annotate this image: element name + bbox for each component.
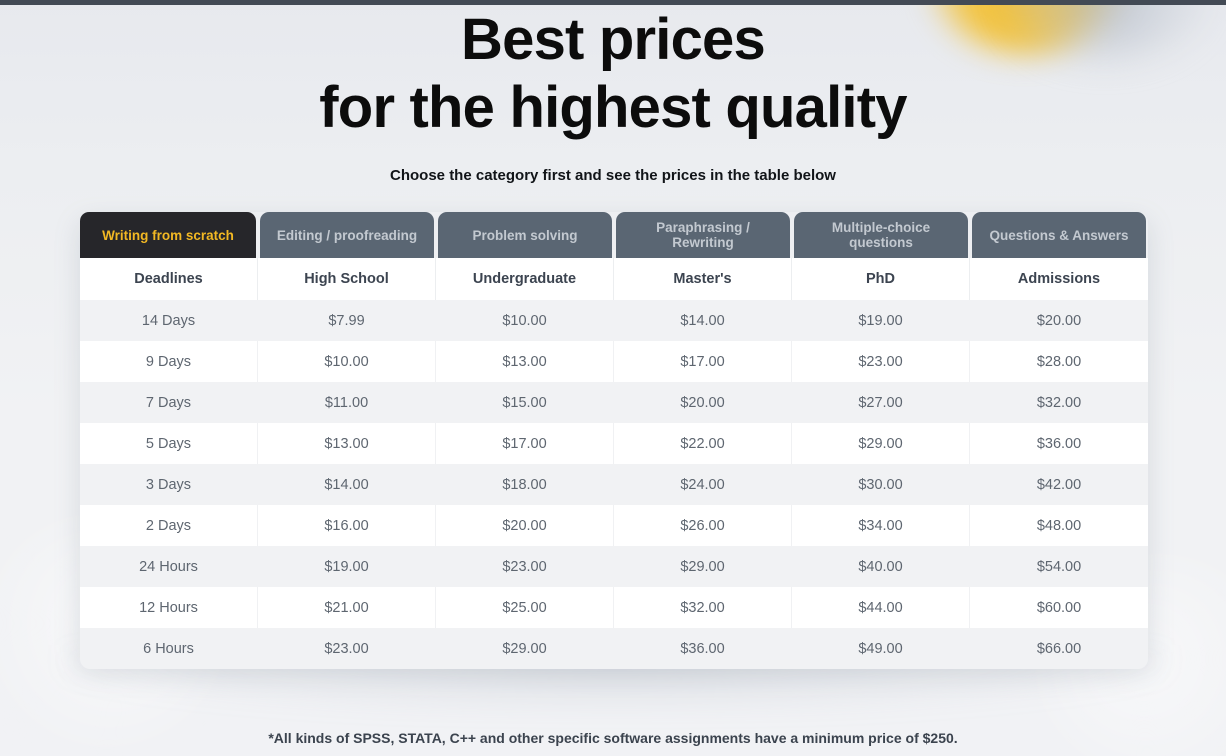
category-tab-0[interactable]: Writing from scratch [80,212,256,258]
price-cell: $19.00 [258,546,436,587]
column-header-5: Admissions [970,258,1148,300]
category-tab-3[interactable]: Paraphrasing / Rewriting [616,212,790,258]
price-cell: $32.00 [970,382,1148,423]
price-cell: $7.99 [258,300,436,341]
price-cell: $36.00 [970,423,1148,464]
price-cell: $26.00 [614,505,792,546]
price-cell: $20.00 [970,300,1148,341]
table-row: 7 Days$11.00$15.00$20.00$27.00$32.00 [80,382,1148,423]
page-title: Best prices for the highest quality [0,6,1226,142]
pricing-table-body: 14 Days$7.99$10.00$14.00$19.00$20.009 Da… [80,300,1148,669]
hero-section: Best prices for the highest quality Choo… [0,0,1226,186]
deadline-cell: 6 Hours [80,628,258,669]
pricing-table-container: Writing from scratchEditing / proofreadi… [80,212,1148,669]
table-row: 9 Days$10.00$13.00$17.00$23.00$28.00 [80,341,1148,382]
price-cell: $11.00 [258,382,436,423]
price-cell: $20.00 [436,505,614,546]
price-cell: $15.00 [436,382,614,423]
table-row: 14 Days$7.99$10.00$14.00$19.00$20.00 [80,300,1148,341]
deadline-cell: 9 Days [80,341,258,382]
category-tab-2[interactable]: Problem solving [438,212,612,258]
price-cell: $44.00 [792,587,970,628]
price-cell: $25.00 [436,587,614,628]
column-header-row: DeadlinesHigh SchoolUndergraduateMaster'… [80,258,1148,300]
price-cell: $24.00 [614,464,792,505]
price-cell: $13.00 [258,423,436,464]
deadline-cell: 14 Days [80,300,258,341]
page-title-line-2: for the highest quality [0,74,1226,142]
price-cell: $60.00 [970,587,1148,628]
price-cell: $23.00 [792,341,970,382]
column-header-4: PhD [792,258,970,300]
price-cell: $19.00 [792,300,970,341]
price-cell: $18.00 [436,464,614,505]
table-row: 24 Hours$19.00$23.00$29.00$40.00$54.00 [80,546,1148,587]
price-cell: $28.00 [970,341,1148,382]
table-row: 2 Days$16.00$20.00$26.00$34.00$48.00 [80,505,1148,546]
price-cell: $17.00 [436,423,614,464]
table-row: 3 Days$14.00$18.00$24.00$30.00$42.00 [80,464,1148,505]
deadline-cell: 24 Hours [80,546,258,587]
price-cell: $29.00 [792,423,970,464]
price-cell: $14.00 [258,464,436,505]
price-cell: $40.00 [792,546,970,587]
price-cell: $10.00 [436,300,614,341]
column-header-3: Master's [614,258,792,300]
price-cell: $17.00 [614,341,792,382]
price-cell: $21.00 [258,587,436,628]
price-cell: $16.00 [258,505,436,546]
price-cell: $23.00 [436,546,614,587]
deadline-cell: 3 Days [80,464,258,505]
price-cell: $66.00 [970,628,1148,669]
price-cell: $54.00 [970,546,1148,587]
table-row: 12 Hours$21.00$25.00$32.00$44.00$60.00 [80,587,1148,628]
price-cell: $36.00 [614,628,792,669]
pricing-page: Best prices for the highest quality Choo… [0,0,1226,756]
category-tab-5[interactable]: Questions & Answers [972,212,1146,258]
category-tab-1[interactable]: Editing / proofreading [260,212,434,258]
price-cell: $20.00 [614,382,792,423]
price-cell: $27.00 [792,382,970,423]
price-cell: $30.00 [792,464,970,505]
column-header-1: High School [258,258,436,300]
price-cell: $32.00 [614,587,792,628]
category-tab-row: Writing from scratchEditing / proofreadi… [80,212,1148,258]
pricing-table: Writing from scratchEditing / proofreadi… [80,212,1148,669]
price-cell: $29.00 [436,628,614,669]
price-cell: $22.00 [614,423,792,464]
footnote-text: *All kinds of SPSS, STATA, C++ and other… [0,729,1226,747]
top-accent-bar [0,0,1226,5]
deadline-cell: 7 Days [80,382,258,423]
price-cell: $14.00 [614,300,792,341]
deadline-cell: 12 Hours [80,587,258,628]
column-header-0: Deadlines [80,258,258,300]
price-cell: $42.00 [970,464,1148,505]
page-title-line-1: Best prices [0,6,1226,74]
table-row: 6 Hours$23.00$29.00$36.00$49.00$66.00 [80,628,1148,669]
price-cell: $13.00 [436,341,614,382]
price-cell: $48.00 [970,505,1148,546]
price-cell: $49.00 [792,628,970,669]
price-cell: $29.00 [614,546,792,587]
table-row: 5 Days$13.00$17.00$22.00$29.00$36.00 [80,423,1148,464]
price-cell: $10.00 [258,341,436,382]
price-cell: $23.00 [258,628,436,669]
price-cell: $34.00 [792,505,970,546]
column-header-2: Undergraduate [436,258,614,300]
deadline-cell: 2 Days [80,505,258,546]
page-subtitle: Choose the category first and see the pr… [0,142,1226,186]
category-tab-4[interactable]: Multiple-choice questions [794,212,968,258]
deadline-cell: 5 Days [80,423,258,464]
